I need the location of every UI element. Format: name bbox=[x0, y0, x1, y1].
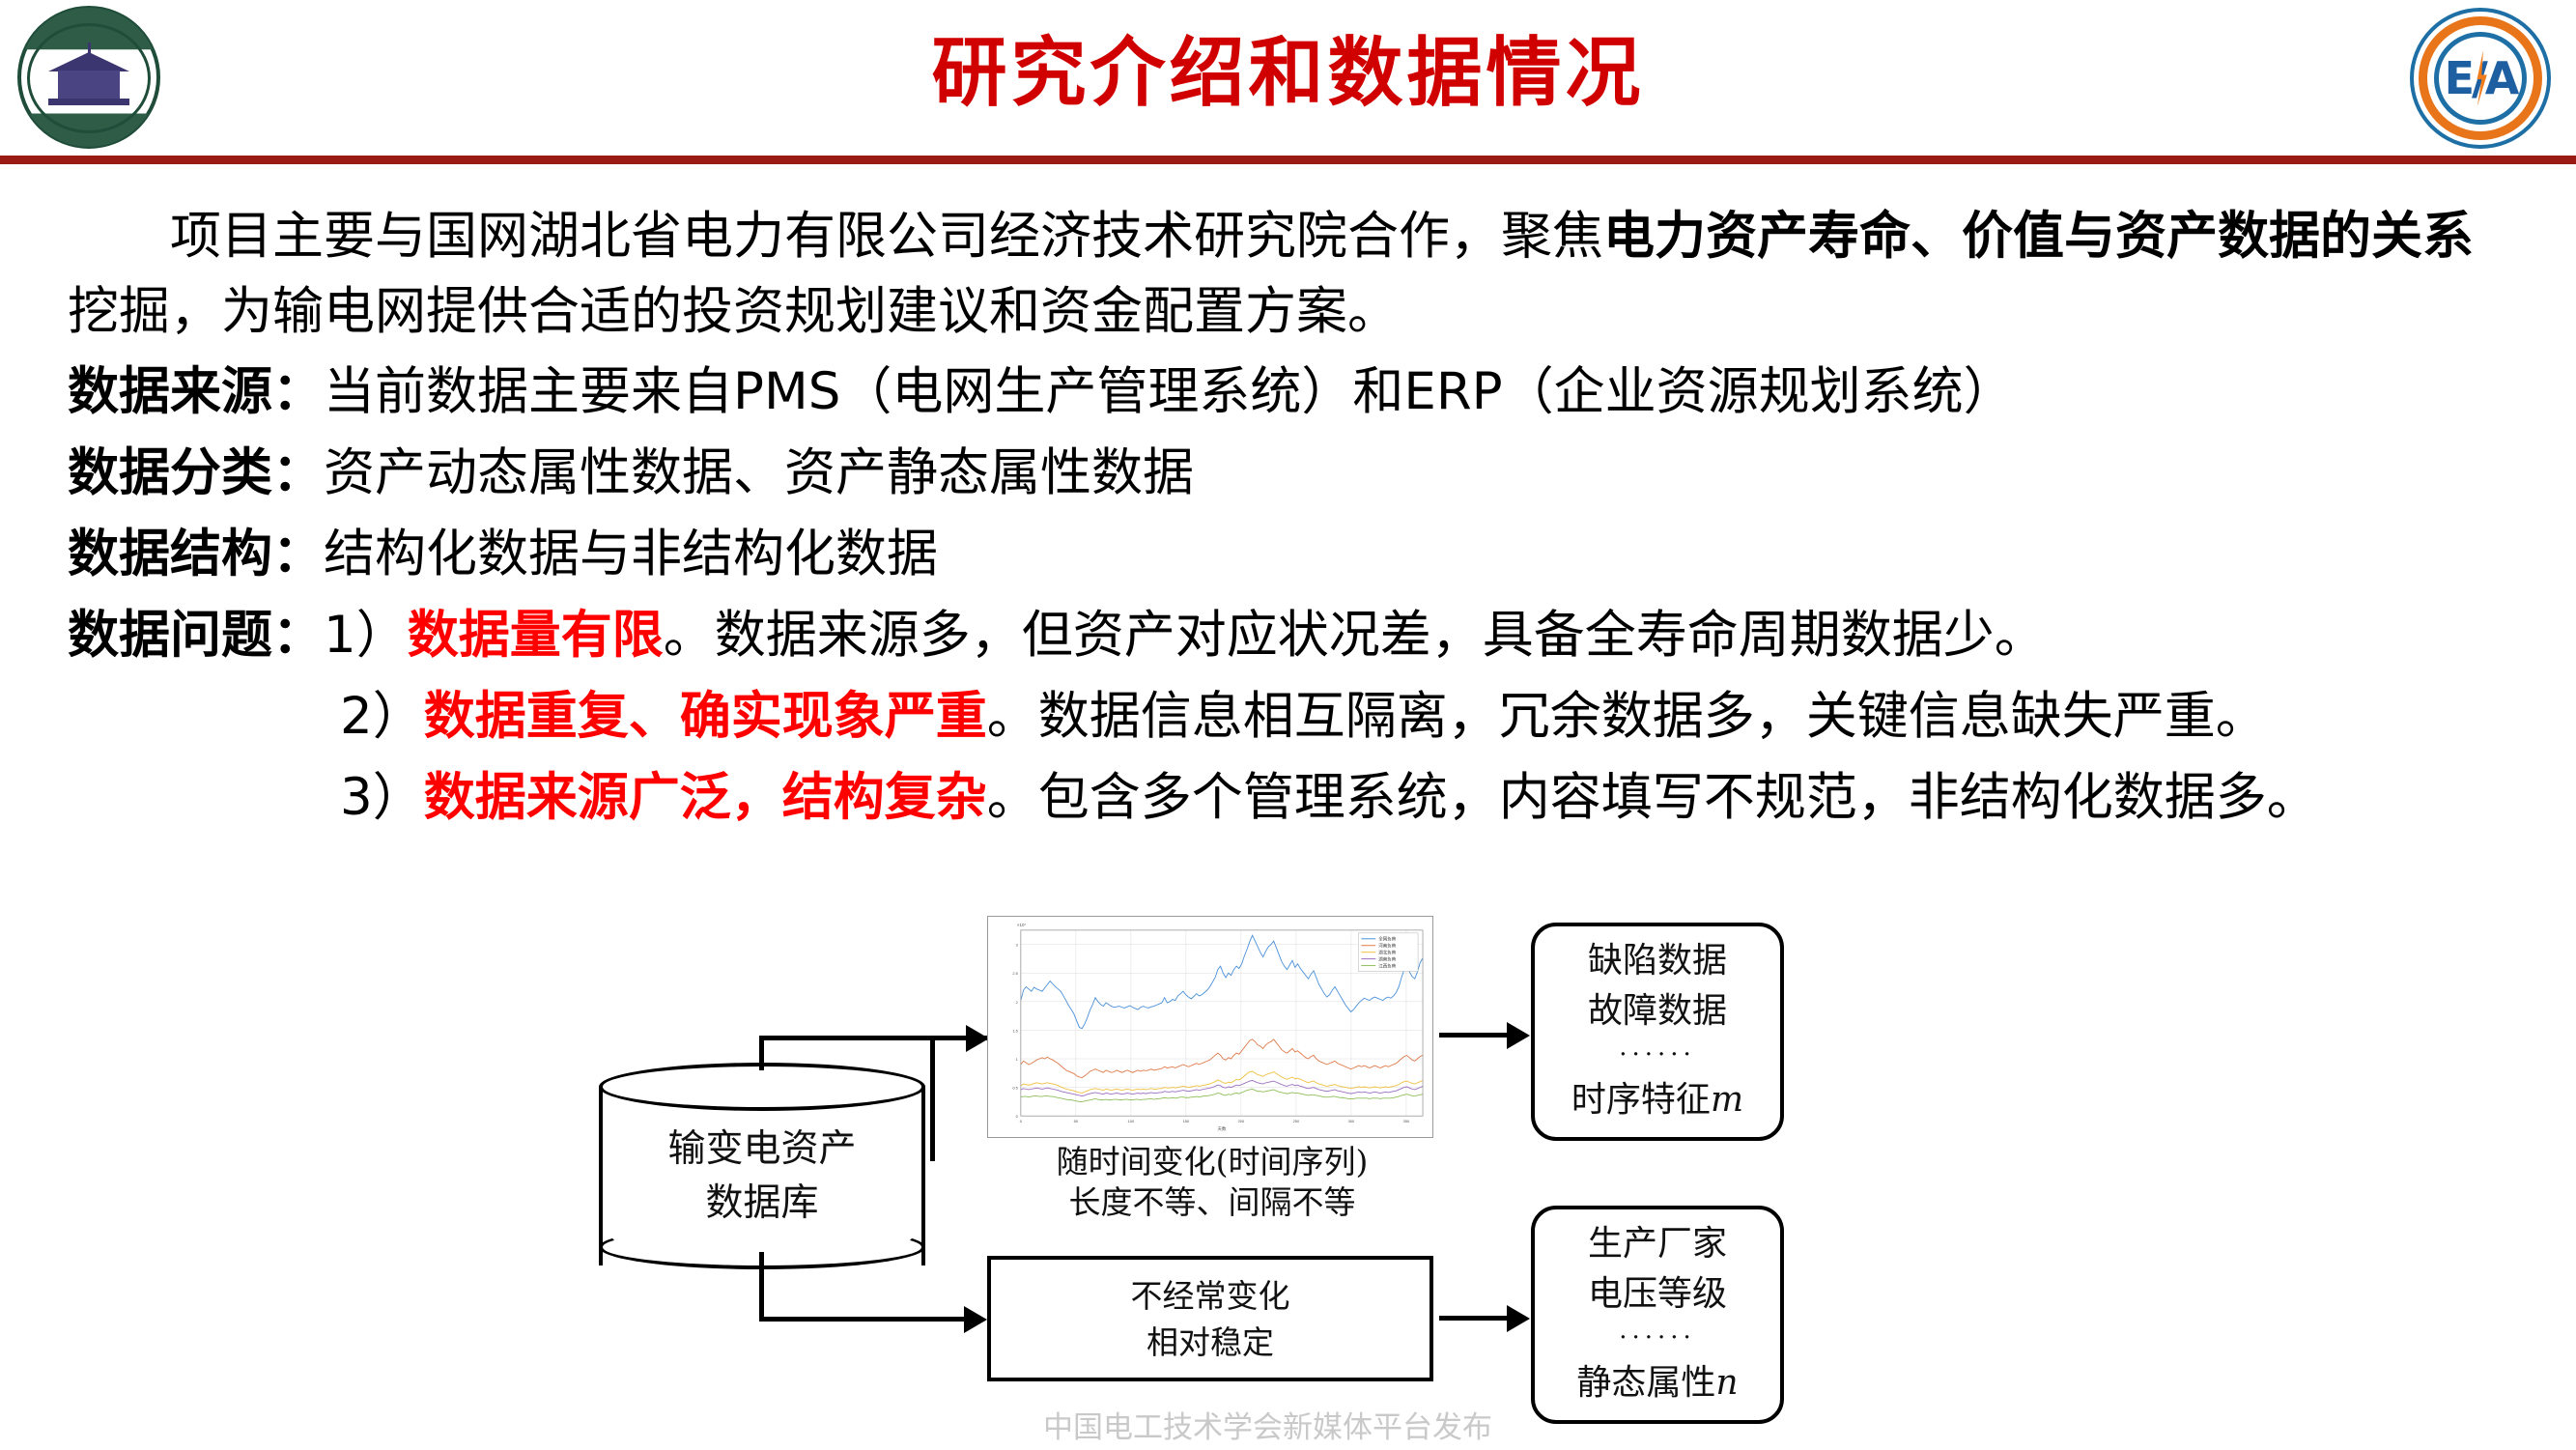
problem-rest: 。数据信息相互隔离，冗余数据多，关键信息缺失严重。 bbox=[987, 687, 2267, 746]
dynamic-item-3: 时序特征m bbox=[1535, 1075, 1780, 1125]
connector-cyl-bottom-drop bbox=[759, 1252, 764, 1322]
problem-number: 2） bbox=[340, 687, 424, 746]
dynamic-item-3-text: 时序特征 bbox=[1571, 1080, 1711, 1120]
svg-text:200: 200 bbox=[1238, 1119, 1245, 1123]
dynamic-item-2: 故障数据 bbox=[1535, 986, 1780, 1037]
row-label: 数据分类 bbox=[68, 443, 272, 502]
timeseries-chart: 00.511.522.53050100150200250300350×10⁷天数… bbox=[987, 916, 1433, 1138]
static-item-3-subscript: n bbox=[1715, 1363, 1738, 1403]
row-label: 数据结构 bbox=[68, 525, 272, 583]
slide-header: 研究介绍和数据情况 E/A bbox=[0, 0, 2576, 164]
arrow-to-static-result-icon bbox=[1507, 1305, 1530, 1332]
connector-db-to-static-horizontal bbox=[759, 1317, 967, 1322]
svg-text:300: 300 bbox=[1348, 1119, 1355, 1123]
row-data-structure: 数据结构：结构化数据与非结构化数据 bbox=[0, 514, 2576, 595]
svg-text:×10⁷: ×10⁷ bbox=[1017, 923, 1027, 927]
row-data-source: 数据来源：当前数据主要来自PMS（电网生产管理系统）和ERP（企业资源规划系统） bbox=[0, 352, 2576, 433]
row-sep: ： bbox=[272, 443, 324, 502]
chart-caption-line1: 随时间变化(时间序列) bbox=[966, 1142, 1458, 1182]
problem-highlight: 数据重复、确实现象严重 bbox=[424, 687, 987, 746]
dynamic-item-1: 缺陷数据 bbox=[1535, 936, 1780, 986]
problem-highlight: 数据量有限 bbox=[408, 606, 664, 665]
dynamic-feature-box: 缺陷数据 故障数据 ······ 时序特征m bbox=[1531, 923, 1784, 1141]
arrow-to-chart-icon bbox=[966, 1025, 989, 1052]
svg-text:河南负荷: 河南负荷 bbox=[1378, 943, 1396, 950]
svg-text:天数: 天数 bbox=[1217, 1125, 1226, 1132]
row-data-category: 数据分类：资产动态属性数据、资产静态属性数据 bbox=[0, 433, 2576, 514]
static-item-3: 静态属性n bbox=[1535, 1358, 1780, 1408]
connector-chart-to-dynamic bbox=[1439, 1033, 1516, 1038]
static-item-2: 电压等级 bbox=[1535, 1269, 1780, 1320]
row-sep: ： bbox=[272, 606, 324, 665]
connector-db-to-chart-vertical bbox=[930, 1036, 935, 1161]
slide-body: 项目主要与国网湖北省电力有限公司经济技术研究院合作，聚焦电力资产寿命、价值与资产… bbox=[0, 172, 2576, 839]
connector-db-arm-left bbox=[763, 1036, 935, 1040]
svg-text:1.5: 1.5 bbox=[1012, 1028, 1018, 1033]
svg-text:江西负荷: 江西负荷 bbox=[1378, 962, 1396, 969]
row-label: 数据问题 bbox=[68, 606, 272, 665]
svg-text:1: 1 bbox=[1016, 1057, 1019, 1062]
svg-text:100: 100 bbox=[1128, 1119, 1135, 1123]
dynamic-ellipsis: ······ bbox=[1535, 1037, 1780, 1075]
svg-text:2.5: 2.5 bbox=[1012, 971, 1018, 976]
svg-text:250: 250 bbox=[1293, 1119, 1300, 1123]
svg-text:全网负荷: 全网负荷 bbox=[1378, 936, 1396, 943]
row-sep: ： bbox=[272, 362, 324, 421]
svg-text:150: 150 bbox=[1183, 1119, 1190, 1123]
static-item-3-text: 静态属性 bbox=[1576, 1363, 1715, 1403]
database-label-line1: 输变电资产 bbox=[599, 1123, 925, 1177]
lead-part1: 项目主要与国网湖北省电力有限公司经济技术研究院合作，聚焦 bbox=[170, 207, 1603, 266]
svg-text:湖南负荷: 湖南负荷 bbox=[1378, 955, 1396, 962]
lead-bold: 电力资产寿命、价值与资产数据的关系 bbox=[1603, 207, 2474, 266]
svg-text:0: 0 bbox=[1020, 1119, 1023, 1123]
page-title: 研究介绍和数据情况 bbox=[0, 25, 2576, 122]
row-value: 当前数据主要来自PMS（电网生产管理系统）和ERP（企业资源规划系统） bbox=[324, 362, 2015, 421]
database-cylinder-node: 输变电资产 数据库 bbox=[599, 1063, 925, 1256]
svg-text:50: 50 bbox=[1074, 1119, 1079, 1123]
database-label-line2: 数据库 bbox=[599, 1177, 925, 1231]
svg-text:350: 350 bbox=[1403, 1119, 1410, 1123]
svg-text:2: 2 bbox=[1016, 1000, 1018, 1005]
problem-number: 1） bbox=[324, 606, 408, 665]
connector-static-to-result bbox=[1439, 1316, 1516, 1321]
problem-rest: 。数据来源多，但资产对应状况差，具备全寿命周期数据少。 bbox=[664, 606, 2046, 665]
row-sep: ： bbox=[272, 525, 324, 583]
problem-item-2: 2）数据重复、确实现象严重。数据信息相互隔离，冗余数据多，关键信息缺失严重。 bbox=[0, 676, 2576, 757]
chart-caption: 随时间变化(时间序列) 长度不等、间隔不等 bbox=[966, 1142, 1458, 1223]
chart-legend: 全网负荷河南负荷湖北负荷湖南负荷江西负荷 bbox=[1358, 933, 1418, 972]
row-data-problems: 数据问题：1）数据量有限。数据来源多，但资产对应状况差，具备全寿命周期数据少。 bbox=[0, 595, 2576, 676]
svg-text:0: 0 bbox=[1016, 1114, 1019, 1119]
static-item-1: 生产厂家 bbox=[1535, 1219, 1780, 1269]
svg-text:3: 3 bbox=[1016, 943, 1019, 948]
connector-cyl-top-riser bbox=[759, 1036, 764, 1070]
static-box-line2: 相对稳定 bbox=[991, 1320, 1430, 1366]
svg-text:湖北负荷: 湖北负荷 bbox=[1378, 949, 1396, 955]
row-value: 资产动态属性数据、资产静态属性数据 bbox=[324, 443, 1194, 502]
arrow-to-dynamic-result-icon bbox=[1507, 1022, 1530, 1049]
lead-paragraph: 项目主要与国网湖北省电力有限公司经济技术研究院合作，聚焦电力资产寿命、价值与资产… bbox=[0, 172, 2576, 350]
dynamic-item-3-subscript: m bbox=[1711, 1080, 1743, 1120]
problem-item-3: 3）数据来源广泛，结构复杂。包含多个管理系统，内容填写不规范，非结构化数据多。 bbox=[0, 757, 2576, 839]
lead-part2: 挖掘，为输电网提供合适的投资规划建议和资金配置方案。 bbox=[68, 282, 1399, 341]
problem-highlight: 数据来源广泛，结构复杂 bbox=[424, 768, 987, 827]
svg-text:0.5: 0.5 bbox=[1012, 1086, 1018, 1091]
timeseries-chart-svg: 00.511.522.53050100150200250300350×10⁷天数… bbox=[988, 917, 1432, 1137]
problem-rest: 。包含多个管理系统，内容填写不规范，非结构化数据多。 bbox=[987, 768, 2318, 827]
static-feature-box: 生产厂家 电压等级 ······ 静态属性n bbox=[1531, 1206, 1784, 1424]
static-attribute-box: 不经常变化 相对稳定 bbox=[987, 1256, 1433, 1381]
static-box-line1: 不经常变化 bbox=[991, 1273, 1430, 1320]
arrow-to-static-box-icon bbox=[964, 1306, 987, 1333]
problem-number: 3） bbox=[340, 768, 424, 827]
watermark: 中国电工技术学会新媒体平台发布 bbox=[1043, 1403, 1492, 1446]
header-divider bbox=[0, 156, 2576, 164]
chart-caption-line2: 长度不等、间隔不等 bbox=[966, 1182, 1458, 1223]
school-of-electrical-engineering-logo-icon: E/A bbox=[2410, 8, 2551, 149]
static-ellipsis: ······ bbox=[1535, 1320, 1780, 1358]
row-label: 数据来源 bbox=[68, 362, 272, 421]
row-value: 结构化数据与非结构化数据 bbox=[324, 525, 938, 583]
